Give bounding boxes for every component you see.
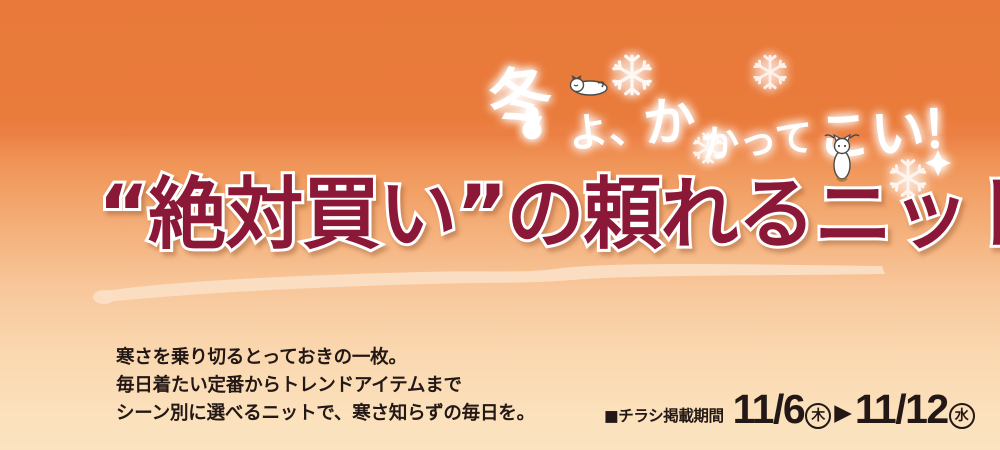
svg-text:よ、: よ、 xyxy=(566,104,650,158)
sleeping-cat-icon xyxy=(571,75,608,95)
svg-text:か: か xyxy=(641,91,698,155)
svg-text:冬: 冬 xyxy=(485,57,556,137)
svg-text:こい: こい xyxy=(815,100,926,169)
body-copy: 寒さを乗り切るとっておきの一枚。 毎日着たい定番からトレンドアイテムまで シーン… xyxy=(116,344,535,428)
tagline-zone: 冬 よ、 か かって こい ！ xyxy=(470,30,990,180)
copy-line-2: 毎日着たい定番からトレンドアイテムまで xyxy=(116,372,535,400)
page-title: “絶対買い”の頼れるニット xyxy=(98,175,1000,257)
flyer-period: ■チラシ掲載期間 11/6 木 ▶ 11/12 水 xyxy=(604,389,976,430)
period-start-date: 11/6 xyxy=(733,389,805,430)
svg-text:！: ！ xyxy=(920,99,974,161)
snowflake-icon xyxy=(614,56,650,94)
tagline-handwritten: 冬 よ、 か かって こい ！ xyxy=(470,30,990,180)
snowflake-icon xyxy=(755,56,785,88)
copy-line-3: シーン別に選べるニットで、寒さ知らずの毎日を。 xyxy=(116,400,535,428)
copy-line-1: 寒さを乗り切るとっておきの一枚。 xyxy=(116,344,535,372)
period-label: ■チラシ掲載期間 xyxy=(604,404,724,426)
period-end-date: 11/12 xyxy=(855,389,948,430)
period-arrow-icon: ▶ xyxy=(834,401,852,424)
period-start-day-badge: 木 xyxy=(805,403,831,429)
knit-campaign-banner: 冬 よ、 か かって こい ！ xyxy=(0,0,1000,450)
headline-zone: “絶対買い”の頼れるニット xyxy=(0,175,1000,290)
period-end-day-badge: 水 xyxy=(949,403,975,429)
